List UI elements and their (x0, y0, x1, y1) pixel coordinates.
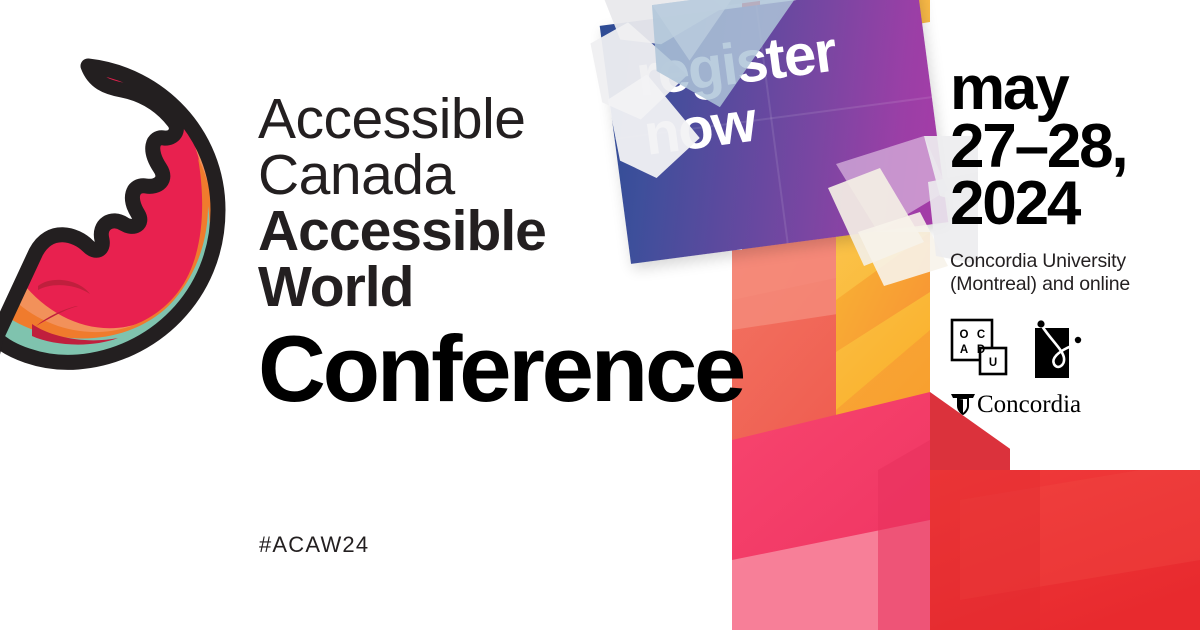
event-venue: Concordia University (Montreal) and onli… (950, 250, 1182, 296)
partner-logo-row: O C A D U (950, 318, 1182, 380)
ribbon-mark-logo (1033, 318, 1083, 380)
register-now-sticker[interactable]: register now (596, 0, 966, 276)
concordia-logo: Concordia (950, 390, 1101, 417)
concordia-wordmark-text: Concordia (977, 391, 1081, 417)
svg-text:U: U (989, 357, 997, 369)
svg-text:O: O (960, 329, 969, 341)
sticker-label: register now (633, 22, 847, 165)
svg-text:A: A (960, 344, 968, 356)
event-venue-line-1: Concordia University (950, 250, 1182, 273)
event-venue-line-2: (Montreal) and online (950, 273, 1182, 296)
event-date-line-3: 2024 (950, 175, 1182, 233)
event-date-line-1: may (950, 60, 1182, 118)
svg-text:C: C (977, 329, 985, 341)
acaw-leaf-logo (0, 38, 242, 388)
page-title: Conference (258, 323, 878, 415)
ocad-u-logo: O C A D U (950, 318, 1012, 378)
event-date-line-2: 27–28, (950, 118, 1182, 176)
event-info-panel: may 27–28, 2024 Concordia University (Mo… (950, 60, 1182, 417)
conference-promo-poster: Accessible Canada Accessible World Confe… (0, 0, 1200, 630)
sticker-card[interactable]: register now (600, 0, 949, 264)
svg-text:D: D (977, 344, 985, 356)
event-hashtag: #ACAW24 (259, 532, 369, 558)
event-date: may 27–28, 2024 (950, 60, 1182, 233)
